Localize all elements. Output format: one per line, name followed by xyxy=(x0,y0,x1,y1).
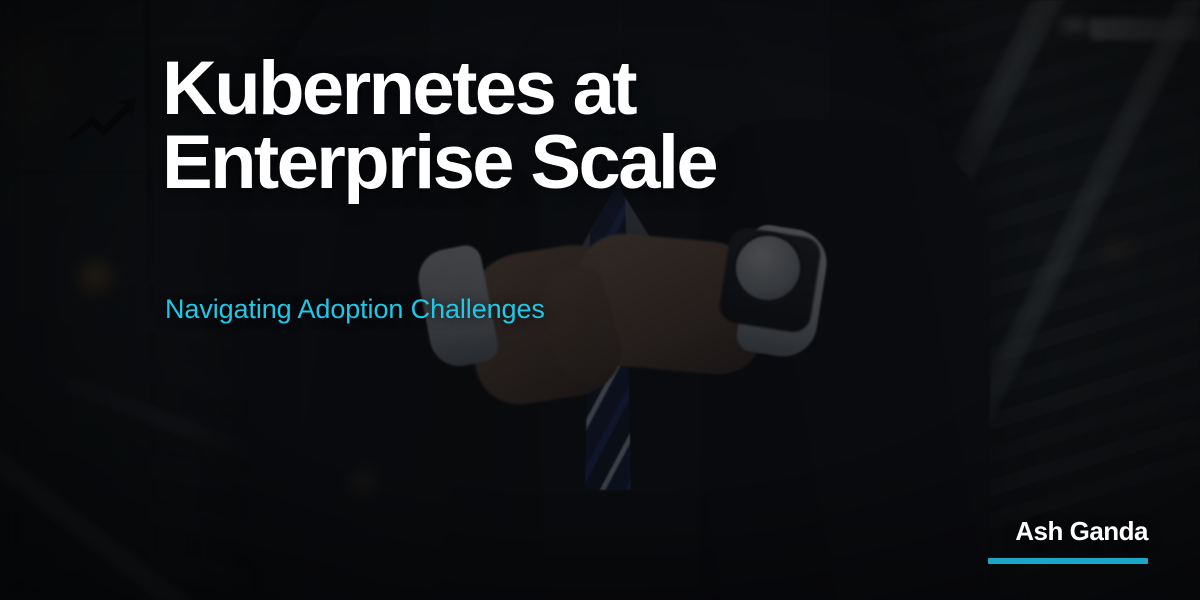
author-name: Ash Ganda xyxy=(988,516,1148,547)
trending-up-arrow-icon xyxy=(68,96,138,140)
slide-subtitle: Navigating Adoption Challenges xyxy=(165,294,545,325)
slide-content: Kubernetes at Enterprise Scale Navigatin… xyxy=(0,0,1200,600)
presentation-slide: Kubernetes at Enterprise Scale Navigatin… xyxy=(0,0,1200,600)
author-block: Ash Ganda xyxy=(988,516,1148,564)
page-title: Kubernetes at Enterprise Scale xyxy=(162,52,922,199)
author-accent-rule xyxy=(988,558,1148,564)
